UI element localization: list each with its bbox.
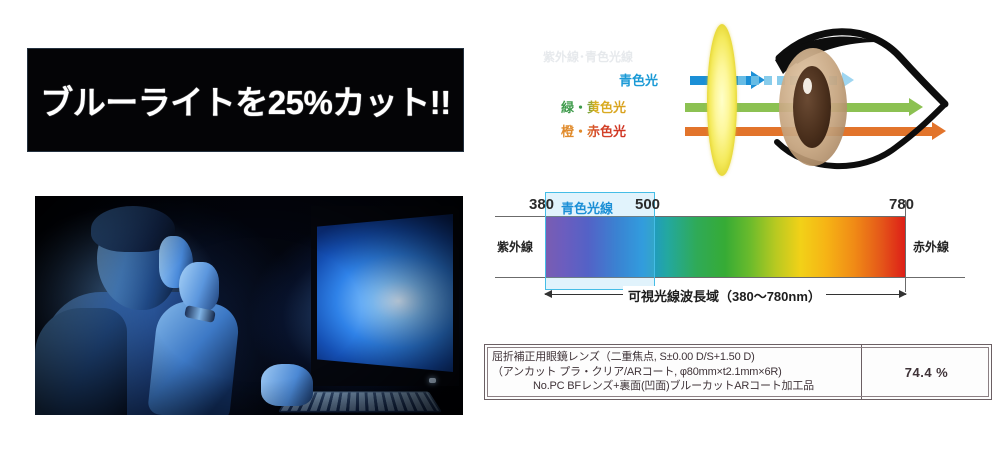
spectrum-tick-780: [905, 200, 906, 292]
photo-vignette: [35, 196, 463, 415]
eye-iris: [793, 66, 831, 148]
ray-label-blue: 青色光: [619, 70, 658, 89]
headline-text: ブルーライトを25%カット!!: [40, 76, 451, 124]
uv-blue-faint-label: 紫外線･青色光線: [543, 48, 633, 65]
blue-light-photo: [35, 196, 463, 415]
table-cell-description-line-3: No.PC BFレンズ+裏面(凹面)ブルーカットARコート加工品: [492, 379, 855, 394]
spectrum-label-infrared: 赤外線: [913, 238, 949, 255]
eye-graphic: [745, 22, 975, 182]
table-row: 屈折補正用眼鏡レンズ（二重焦点, S±0.00 D/S+1.50 D) （アンカ…: [485, 345, 862, 399]
transmittance-value: 74.4 %: [905, 365, 948, 380]
spectrum-label-ultraviolet: 紫外線: [497, 238, 533, 255]
eye-lens-diagram: 紫外線･青色光線 青色光 緑・黄色光 橙・赤色光: [495, 8, 995, 183]
ray-label-green-yellow: 緑・黄色光: [561, 97, 626, 116]
blue-cut-lens: [707, 24, 737, 176]
visible-range-caption: 可視光線波長域（380〜780nm）: [623, 286, 826, 305]
table-value-cell: 74.4 %: [862, 345, 991, 399]
lens-spec-table: 屈折補正用眼鏡レンズ（二重焦点, S±0.00 D/S+1.50 D) （アンカ…: [484, 344, 992, 400]
spectrum-label-500: 500: [635, 196, 660, 213]
table-cell-description-line-2: （アンカット プラ・クリア/ARコート, φ80mm×t2.1mm×6R): [492, 365, 855, 380]
spectrum-label-380: 380: [529, 196, 554, 213]
eye-highlight: [803, 78, 812, 94]
blue-light-band-label: 青色光線: [561, 198, 613, 217]
visible-light-spectrum-chart: 380 青色光線 500 780 紫外線 赤外線 可視光線波長域（380〜780…: [495, 190, 965, 315]
spectrum-label-780: 780: [889, 196, 914, 213]
table-cell-description-line-1: 屈折補正用眼鏡レンズ（二重焦点, S±0.00 D/S+1.50 D): [492, 350, 855, 365]
ray-label-orange-red: 橙・赤色光: [561, 121, 626, 140]
headline-banner: ブルーライトを25%カット!!: [27, 48, 464, 152]
